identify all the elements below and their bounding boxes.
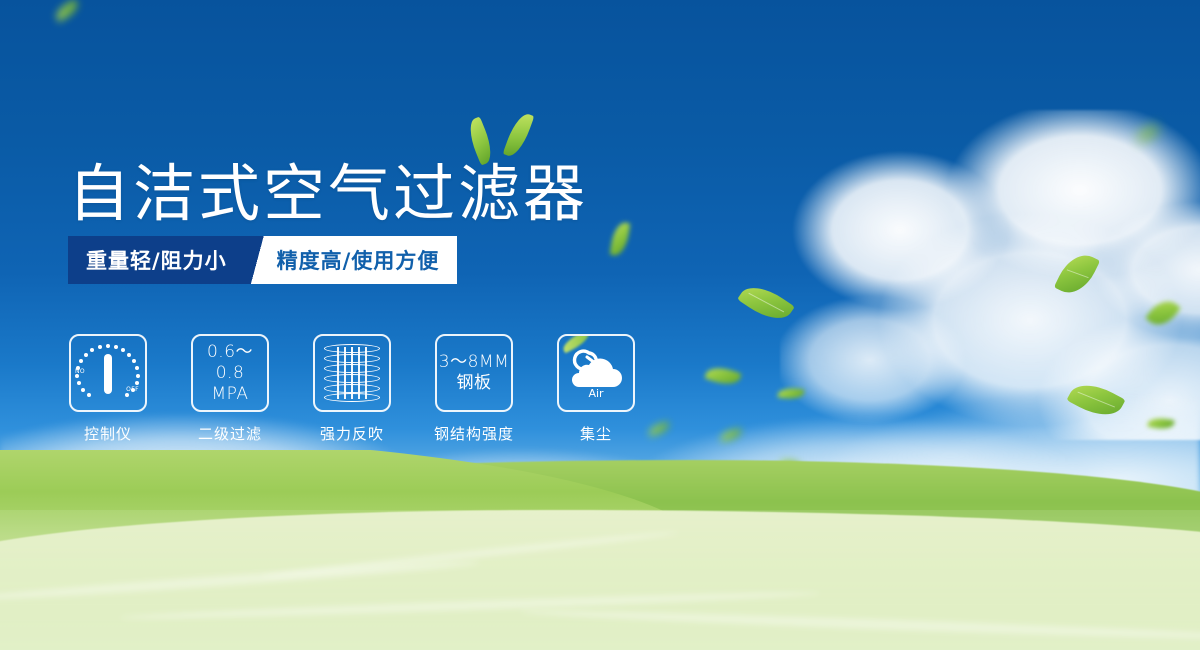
ribbon-divider — [247, 236, 269, 284]
feature-label: 强力反吹 — [320, 423, 384, 444]
feature-item-steel[interactable]: 3～8MM 钢板 钢结构强度 — [434, 334, 514, 444]
cloud-shape: Air — [565, 345, 627, 401]
feature-list: NO OFF 控制仪 0.6～0.8 MPA 二级过滤 — [68, 334, 636, 444]
feature-item-dust[interactable]: Air 集尘 — [556, 334, 636, 444]
feature-label: 二级过滤 — [198, 423, 262, 444]
ribbon-left-text: 重量轻/阻力小 — [68, 236, 247, 284]
ribbon-right-text: 精度高/使用方便 — [269, 236, 458, 284]
leaf-icon — [704, 363, 741, 389]
leaf-icon — [52, 0, 81, 22]
steel-plate-icon: 3～8MM 钢板 — [435, 334, 513, 412]
filter-cartridge — [324, 344, 380, 402]
leaf-icon — [610, 221, 631, 257]
gauge-label-off: OFF — [126, 386, 139, 393]
feature-label: 控制仪 — [84, 423, 132, 444]
air-label: Air — [565, 387, 627, 400]
feature-item-pressure[interactable]: 0.6～0.8 MPA 二级过滤 — [190, 334, 270, 444]
pressure-icon: 0.6～0.8 MPA — [191, 334, 269, 412]
product-banner: 自洁式空气过滤器 重量轻/阻力小 精度高/使用方便 — [0, 0, 1200, 650]
page-title: 自洁式空气过滤器 — [68, 143, 588, 233]
filter-stack-icon — [313, 334, 391, 412]
feature-item-controller[interactable]: NO OFF 控制仪 — [68, 334, 148, 444]
steel-value: 3～8MM 钢板 — [439, 352, 509, 394]
gauge-label-no: NO — [75, 368, 85, 375]
cloud-air-icon: Air — [557, 334, 635, 412]
pressure-value: 0.6～0.8 MPA — [193, 342, 267, 405]
feature-label: 集尘 — [580, 423, 612, 444]
feature-label: 钢结构强度 — [434, 423, 514, 444]
feature-item-blowback[interactable]: 强力反吹 — [312, 334, 392, 444]
grass-field — [0, 450, 1200, 650]
gauge-dial: NO OFF — [75, 342, 141, 404]
gauge-icon: NO OFF — [69, 334, 147, 412]
subtitle-ribbon: 重量轻/阻力小 精度高/使用方便 — [68, 236, 457, 284]
